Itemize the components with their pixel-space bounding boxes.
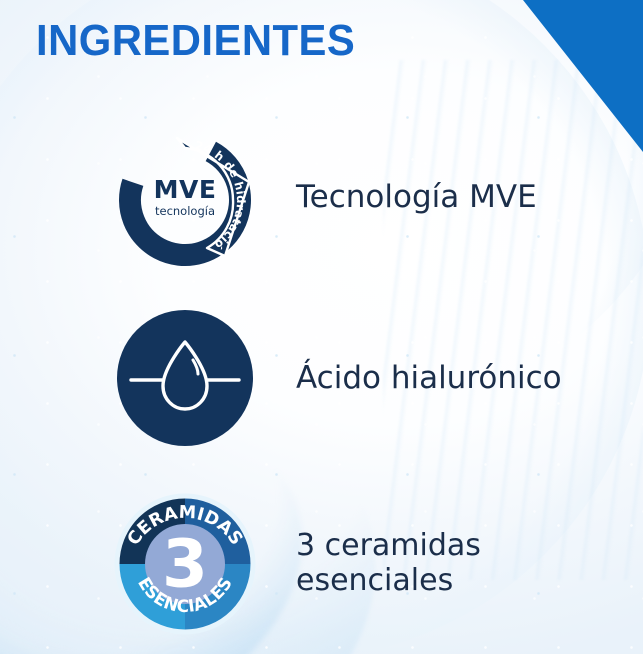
ceramides-seal-graphic: 3 CERAMIDAS ESENCIALES — [112, 494, 258, 634]
ingredient-label-mve: Tecnología MVE — [296, 179, 537, 216]
ingredient-row-mve: 24 h de hidratación MVE tecnología Tecno… — [110, 122, 537, 272]
water-droplet-icon — [110, 303, 260, 453]
ingredient-row-hyaluronic-acid: Ácido hialurónico — [110, 303, 562, 453]
mve-badge-graphic: 24 h de hidratación — [115, 130, 255, 270]
ingredient-row-ceramides: 3 CERAMIDAS ESENCIALES 3 ceramidas esenc… — [110, 488, 481, 638]
page-title: INGREDIENTES — [36, 16, 355, 66]
ceramides-count-number: 3 — [162, 526, 208, 603]
ingredient-label-ceramides: 3 ceramidas esenciales — [296, 528, 481, 599]
mve-technology-badge-icon: 24 h de hidratación MVE tecnología — [110, 122, 260, 272]
ingredients-panel: INGREDIENTES 24 h de hidratación MVE tec… — [0, 0, 643, 654]
droplet-badge-graphic — [117, 310, 253, 446]
ceramides-seal-icon: 3 CERAMIDAS ESENCIALES — [110, 488, 260, 638]
ingredient-label-hyaluronic-acid: Ácido hialurónico — [296, 360, 562, 397]
